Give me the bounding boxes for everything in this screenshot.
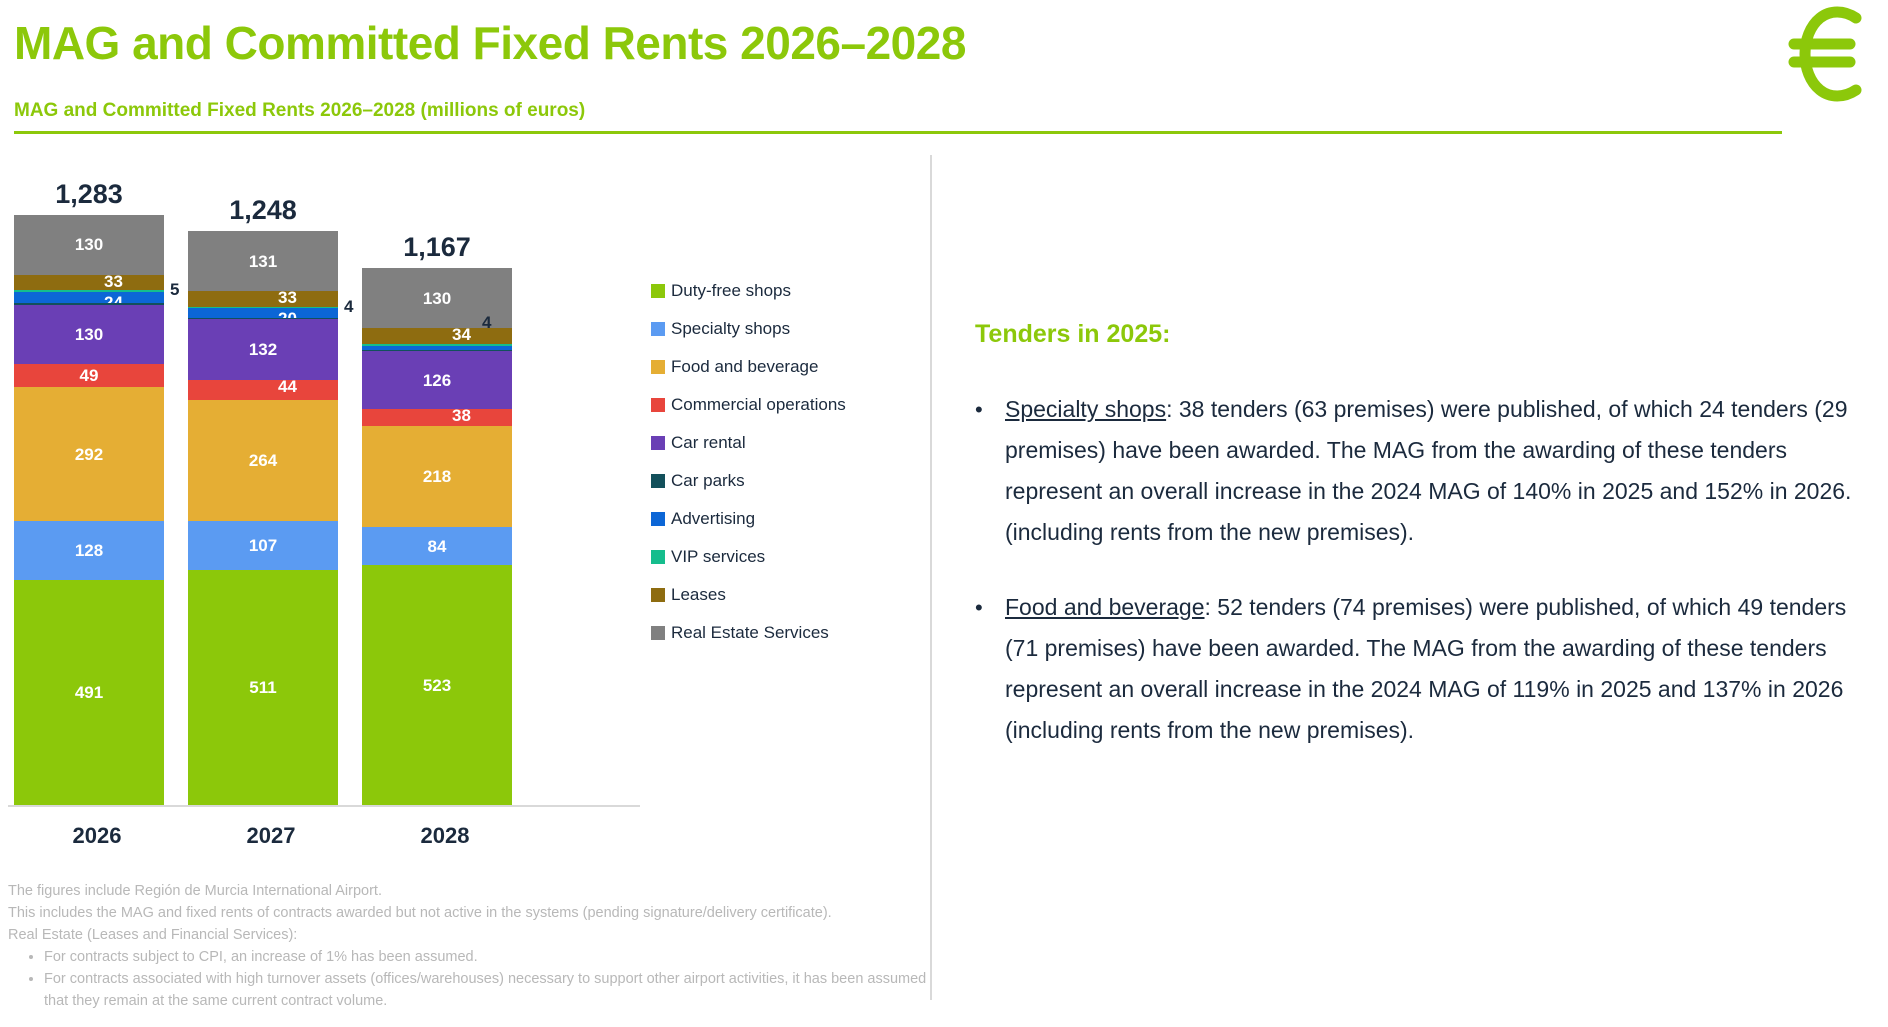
bar-segment-food-and-beverage[interactable]: 292: [14, 387, 164, 521]
legend-swatch-icon: [651, 550, 665, 564]
bar-segment-real-estate-services[interactable]: 130: [14, 215, 164, 275]
footnote-item: For contracts subject to CPI, an increas…: [44, 946, 948, 968]
bar-2028[interactable]: 1,16713034491263821884523: [362, 268, 512, 805]
legend-label: Duty-free shops: [671, 281, 791, 301]
footnote-line: Real Estate (Leases and Financial Servic…: [8, 924, 948, 946]
slide-root: MAG and Committed Fixed Rents 2026–2028 …: [0, 0, 1888, 1027]
legend-swatch-icon: [651, 398, 665, 412]
bar-segment-food-and-beverage[interactable]: 264: [188, 400, 338, 521]
segment-value-label: 44: [278, 378, 297, 395]
segment-callout-label: 4: [482, 314, 491, 331]
panel-bullet: •Food and beverage: 52 tenders (74 premi…: [975, 587, 1865, 751]
legend-label: Advertising: [671, 509, 755, 529]
footnote-items: For contracts subject to CPI, an increas…: [8, 946, 948, 1012]
legend-label: Real Estate Services: [671, 623, 829, 643]
legend-swatch-icon: [651, 626, 665, 640]
bar-segment-duty-free-shops[interactable]: 511: [188, 570, 338, 805]
chart-legend: Duty-free shopsSpecialty shopsFood and b…: [651, 272, 846, 652]
segment-value-label: 264: [249, 452, 277, 469]
segment-value-label: 34: [452, 326, 471, 343]
footnote-line: The figures include Región de Murcia Int…: [8, 880, 948, 902]
segment-value-label: 491: [75, 684, 103, 701]
segment-value-label: 523: [423, 677, 451, 694]
legend-item-vip-services[interactable]: VIP services: [651, 538, 846, 576]
panel-title: Tenders in 2025:: [975, 320, 1865, 349]
vertical-divider: [930, 155, 932, 1000]
bar-segment-food-and-beverage[interactable]: 218: [362, 426, 512, 526]
segment-value-label: 84: [428, 538, 447, 555]
bullet-lead-term: Specialty shops: [1005, 396, 1166, 422]
segment-value-label: 130: [423, 290, 451, 307]
panel-bullet-list: •Specialty shops: 38 tenders (63 premise…: [975, 389, 1865, 751]
legend-swatch-icon: [651, 360, 665, 374]
legend-item-advertising[interactable]: Advertising: [651, 500, 846, 538]
legend-swatch-icon: [651, 436, 665, 450]
bar-segment-commercial-operations[interactable]: 49: [14, 364, 164, 387]
legend-item-food-and-beverage[interactable]: Food and beverage: [651, 348, 846, 386]
legend-swatch-icon: [651, 284, 665, 298]
bullet-marker-icon: •: [975, 587, 1005, 751]
bar-segment-car-rental[interactable]: 132: [188, 319, 338, 380]
footnote-block: The figures include Región de Murcia Int…: [8, 880, 948, 1012]
page-title: MAG and Committed Fixed Rents 2026–2028: [14, 16, 966, 70]
segment-value-label: 511: [249, 679, 276, 696]
bullet-marker-icon: •: [975, 389, 1005, 553]
legend-label: Car parks: [671, 471, 745, 491]
bar-2027[interactable]: 1,2481313342013244264107511: [188, 231, 338, 805]
header-divider: [14, 131, 1782, 134]
bullet-text: Specialty shops: 38 tenders (63 premises…: [1005, 389, 1865, 553]
legend-item-duty-free-shops[interactable]: Duty-free shops: [651, 272, 846, 310]
bar-segment-leases[interactable]: 33: [14, 275, 164, 290]
footnote-item: For contracts associated with high turno…: [44, 968, 948, 1012]
bullet-lead-term: Food and beverage: [1005, 594, 1205, 620]
segment-value-label: 33: [278, 289, 297, 306]
legend-label: VIP services: [671, 547, 765, 567]
x-axis-label-2027: 2027: [196, 823, 346, 849]
segment-value-label: 107: [249, 537, 277, 554]
legend-label: Leases: [671, 585, 726, 605]
segment-value-label: 128: [75, 542, 103, 559]
x-axis-label-2028: 2028: [370, 823, 520, 849]
bar-2026[interactable]: 1,2831303352413049292128491: [14, 215, 164, 805]
segment-value-label: 218: [423, 468, 451, 485]
bar-segment-advertising[interactable]: 20: [188, 308, 338, 317]
legend-swatch-icon: [651, 588, 665, 602]
legend-item-leases[interactable]: Leases: [651, 576, 846, 614]
page-subtitle: MAG and Committed Fixed Rents 2026–2028 …: [14, 100, 585, 122]
segment-value-label: 131: [249, 253, 277, 270]
legend-swatch-icon: [651, 512, 665, 526]
bar-segment-real-estate-services[interactable]: 131: [188, 231, 338, 291]
legend-item-real-estate-services[interactable]: Real Estate Services: [651, 614, 846, 652]
bar-segment-duty-free-shops[interactable]: 491: [14, 580, 164, 806]
bar-segment-duty-free-shops[interactable]: 523: [362, 565, 512, 806]
legend-item-car-rental[interactable]: Car rental: [651, 424, 846, 462]
segment-callout-label: 5: [170, 281, 179, 298]
bar-segment-car-rental[interactable]: 126: [362, 351, 512, 409]
bar-total-label: 1,167: [362, 232, 512, 263]
bar-segment-commercial-operations[interactable]: 44: [188, 380, 338, 400]
segment-value-label: 49: [80, 367, 99, 384]
legend-label: Food and beverage: [671, 357, 818, 377]
segment-value-label: 38: [452, 407, 471, 424]
bar-segment-leases[interactable]: 33: [188, 291, 338, 306]
tenders-panel: Tenders in 2025: •Specialty shops: 38 te…: [975, 320, 1865, 785]
bar-total-label: 1,248: [188, 195, 338, 226]
legend-label: Car rental: [671, 433, 746, 453]
segment-value-label: 130: [75, 326, 103, 343]
segment-value-label: 292: [75, 446, 103, 463]
chart-baseline: [8, 805, 640, 807]
footnote-line: This includes the MAG and fixed rents of…: [8, 902, 948, 924]
euro-icon: [1774, 4, 1870, 104]
bar-segment-specialty-shops[interactable]: 128: [14, 521, 164, 580]
legend-label: Commercial operations: [671, 395, 846, 415]
segment-value-label: 130: [75, 236, 103, 253]
bar-segment-advertising[interactable]: 24: [14, 292, 164, 303]
legend-swatch-icon: [651, 322, 665, 336]
bullet-text: Food and beverage: 52 tenders (74 premis…: [1005, 587, 1865, 751]
bar-total-label: 1,283: [14, 179, 164, 210]
bar-segment-specialty-shops[interactable]: 107: [188, 521, 338, 570]
bar-segment-car-rental[interactable]: 130: [14, 305, 164, 365]
legend-item-car-parks[interactable]: Car parks: [651, 462, 846, 500]
legend-item-specialty-shops[interactable]: Specialty shops: [651, 310, 846, 348]
bar-segment-commercial-operations[interactable]: 38: [362, 409, 512, 426]
segment-value-label: 33: [104, 273, 123, 290]
legend-label: Specialty shops: [671, 319, 790, 339]
bar-segment-specialty-shops[interactable]: 84: [362, 527, 512, 566]
segment-value-label: 132: [249, 341, 277, 358]
legend-item-commercial-operations[interactable]: Commercial operations: [651, 386, 846, 424]
segment-value-label: 126: [423, 372, 451, 389]
x-axis-label-2026: 2026: [22, 823, 172, 849]
segment-callout-label: 4: [344, 298, 353, 315]
legend-swatch-icon: [651, 474, 665, 488]
panel-bullet: •Specialty shops: 38 tenders (63 premise…: [975, 389, 1865, 553]
